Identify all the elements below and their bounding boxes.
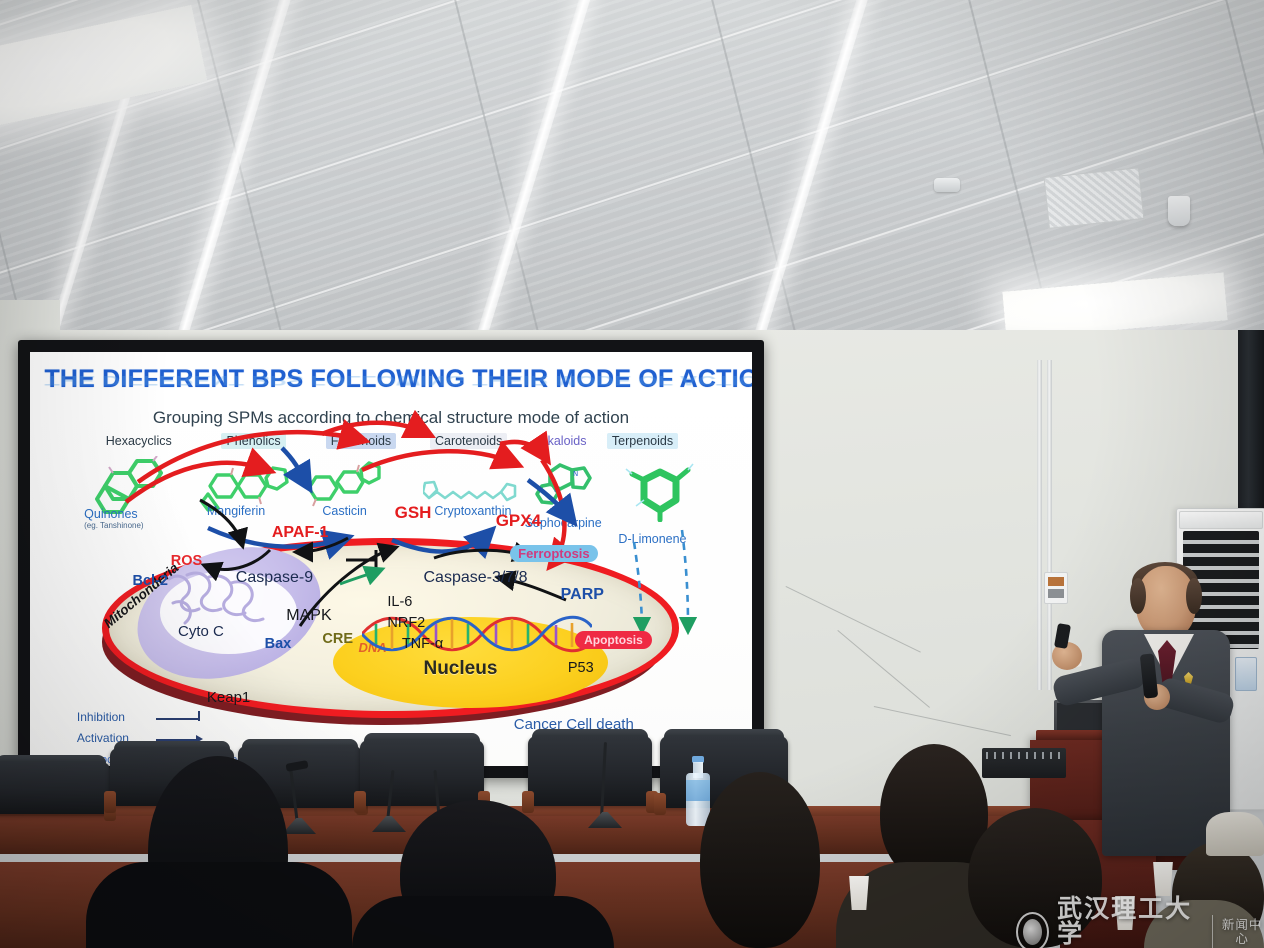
pill-apoptosis: Apoptosis — [575, 631, 652, 649]
watermark-chinese-name: 武汉理工大学 — [1057, 896, 1203, 946]
node-apaf1: APAF-1 — [272, 524, 329, 542]
legend-inhibition-label: Inhibition — [77, 710, 125, 724]
news-center-watermark: 武汉理工大学 WUHAN POLYTECHNIC UNIVERSITY 新闻中心 — [1016, 896, 1264, 948]
smoke-detector — [934, 178, 960, 192]
node-ros: ROS — [171, 553, 202, 569]
node-cre: CRE — [322, 631, 353, 647]
audience-head — [700, 772, 820, 948]
node-caspase-3-7-8: Caspase-3/7/8 — [423, 569, 527, 587]
air-vent — [1044, 167, 1145, 229]
node-gpx4: GPX4 — [496, 511, 541, 531]
sprinkler-head — [864, 128, 873, 150]
pathway-arrows — [30, 352, 752, 766]
node-p53: P53 — [568, 660, 594, 676]
water-bottle — [686, 756, 710, 826]
presenter-hair-side — [1130, 578, 1146, 614]
node-nrf2: NRF2 — [387, 615, 425, 631]
node-bcl2: Bcl-2 — [133, 573, 168, 589]
node-parp: PARP — [561, 586, 604, 604]
pill-ferroptosis: Ferroptosis — [510, 545, 598, 562]
node-cyto-c: Cyto C — [178, 623, 224, 640]
node-caspase-9: Caspase-9 — [236, 569, 313, 587]
projection-screen: THE DIFFERENT BPS FOLLOWING THEIR MODE O… — [30, 352, 752, 766]
presentation-slide: THE DIFFERENT BPS FOLLOWING THEIR MODE O… — [30, 352, 752, 766]
ceiling — [0, 0, 1264, 352]
legend-inhibition-line — [156, 718, 198, 720]
conference-chair[interactable] — [360, 740, 484, 806]
node-mapk: MAPK — [286, 607, 331, 625]
audience-shoulders — [86, 862, 352, 948]
cell-diagram: Nucleus DNA — [30, 352, 752, 766]
node-il6: IL-6 — [387, 594, 412, 610]
watermark-news-center: 新闻中心 — [1220, 918, 1264, 946]
node-tnf-alpha: TNF-α — [402, 636, 443, 652]
node-gsh: GSH — [395, 503, 432, 523]
ac-top-panel — [1179, 511, 1263, 529]
legend-inhibition-bar — [198, 711, 200, 721]
ceiling-speaker — [1168, 196, 1190, 226]
node-keap1: Keap1 — [207, 689, 250, 706]
audience-cap — [1206, 812, 1264, 856]
node-bax: Bax — [265, 636, 292, 652]
conference-chair[interactable] — [528, 736, 652, 806]
university-seal-icon — [1016, 912, 1049, 948]
audience-shoulders — [352, 896, 614, 948]
lecture-hall-photo: THE DIFFERENT BPS FOLLOWING THEIR MODE O… — [0, 0, 1264, 948]
watermark-divider — [1212, 915, 1213, 948]
conference-chair[interactable] — [0, 762, 110, 814]
presenter-hair-side — [1186, 578, 1202, 614]
sprinkler-head — [514, 260, 523, 282]
